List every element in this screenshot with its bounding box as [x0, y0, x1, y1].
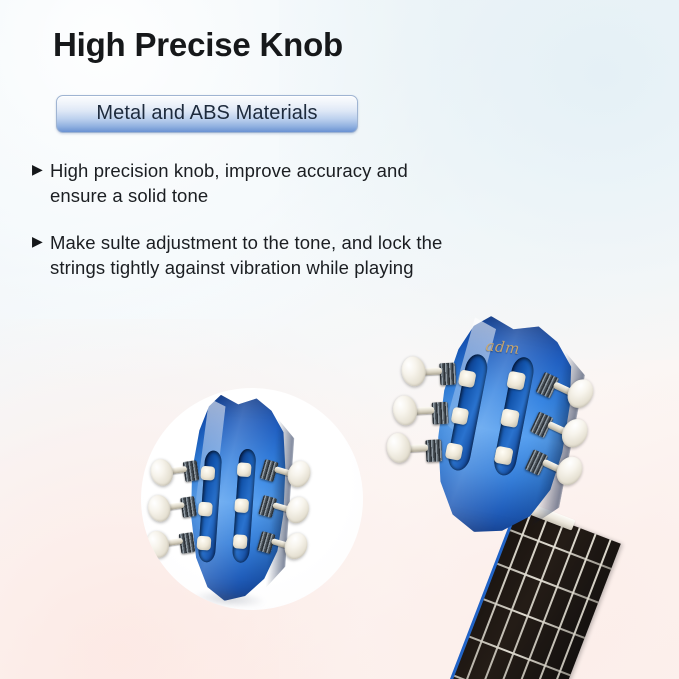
triangle-right-icon: ▶ — [32, 162, 50, 176]
string-post — [237, 462, 252, 477]
string-post — [458, 369, 477, 388]
string-post — [451, 407, 470, 426]
headstock: adm — [405, 307, 595, 547]
tuner-gear — [432, 402, 449, 425]
knob-closeup-circle — [141, 388, 363, 610]
string-post — [200, 466, 215, 481]
string-post — [234, 498, 249, 513]
string-post — [445, 442, 464, 461]
list-item: ▶ Make sulte adjustment to the tone, and… — [32, 230, 452, 280]
string-post — [494, 446, 514, 466]
string-post — [506, 371, 526, 391]
tuning-knob — [391, 394, 419, 427]
list-item: ▶ High precision knob, improve accuracy … — [32, 158, 452, 208]
triangle-right-icon: ▶ — [32, 234, 50, 248]
tuning-knob — [148, 457, 176, 489]
page-title: High Precise Knob — [53, 26, 343, 64]
tuner-gear — [425, 439, 442, 462]
tuning-knob — [385, 431, 413, 464]
list-item-text: Make sulte adjustment to the tone, and l… — [50, 230, 452, 280]
string-post — [197, 536, 212, 551]
product-feature-image: High Precise Knob Metal and ABS Material… — [0, 0, 679, 679]
tuner-gear — [439, 363, 456, 386]
string-post — [500, 408, 520, 428]
headstock-closeup — [173, 393, 299, 605]
feature-list: ▶ High precision knob, improve accuracy … — [32, 158, 452, 303]
string-post — [198, 502, 213, 517]
product-photo-headstock: adm — [352, 300, 679, 679]
list-item-text: High precision knob, improve accuracy an… — [50, 158, 452, 208]
string-post — [233, 534, 248, 549]
tuning-knob — [399, 355, 427, 388]
status-badge-label: Metal and ABS Materials — [96, 102, 317, 125]
tuning-knob — [145, 493, 173, 525]
status-badge: Metal and ABS Materials — [56, 95, 358, 133]
